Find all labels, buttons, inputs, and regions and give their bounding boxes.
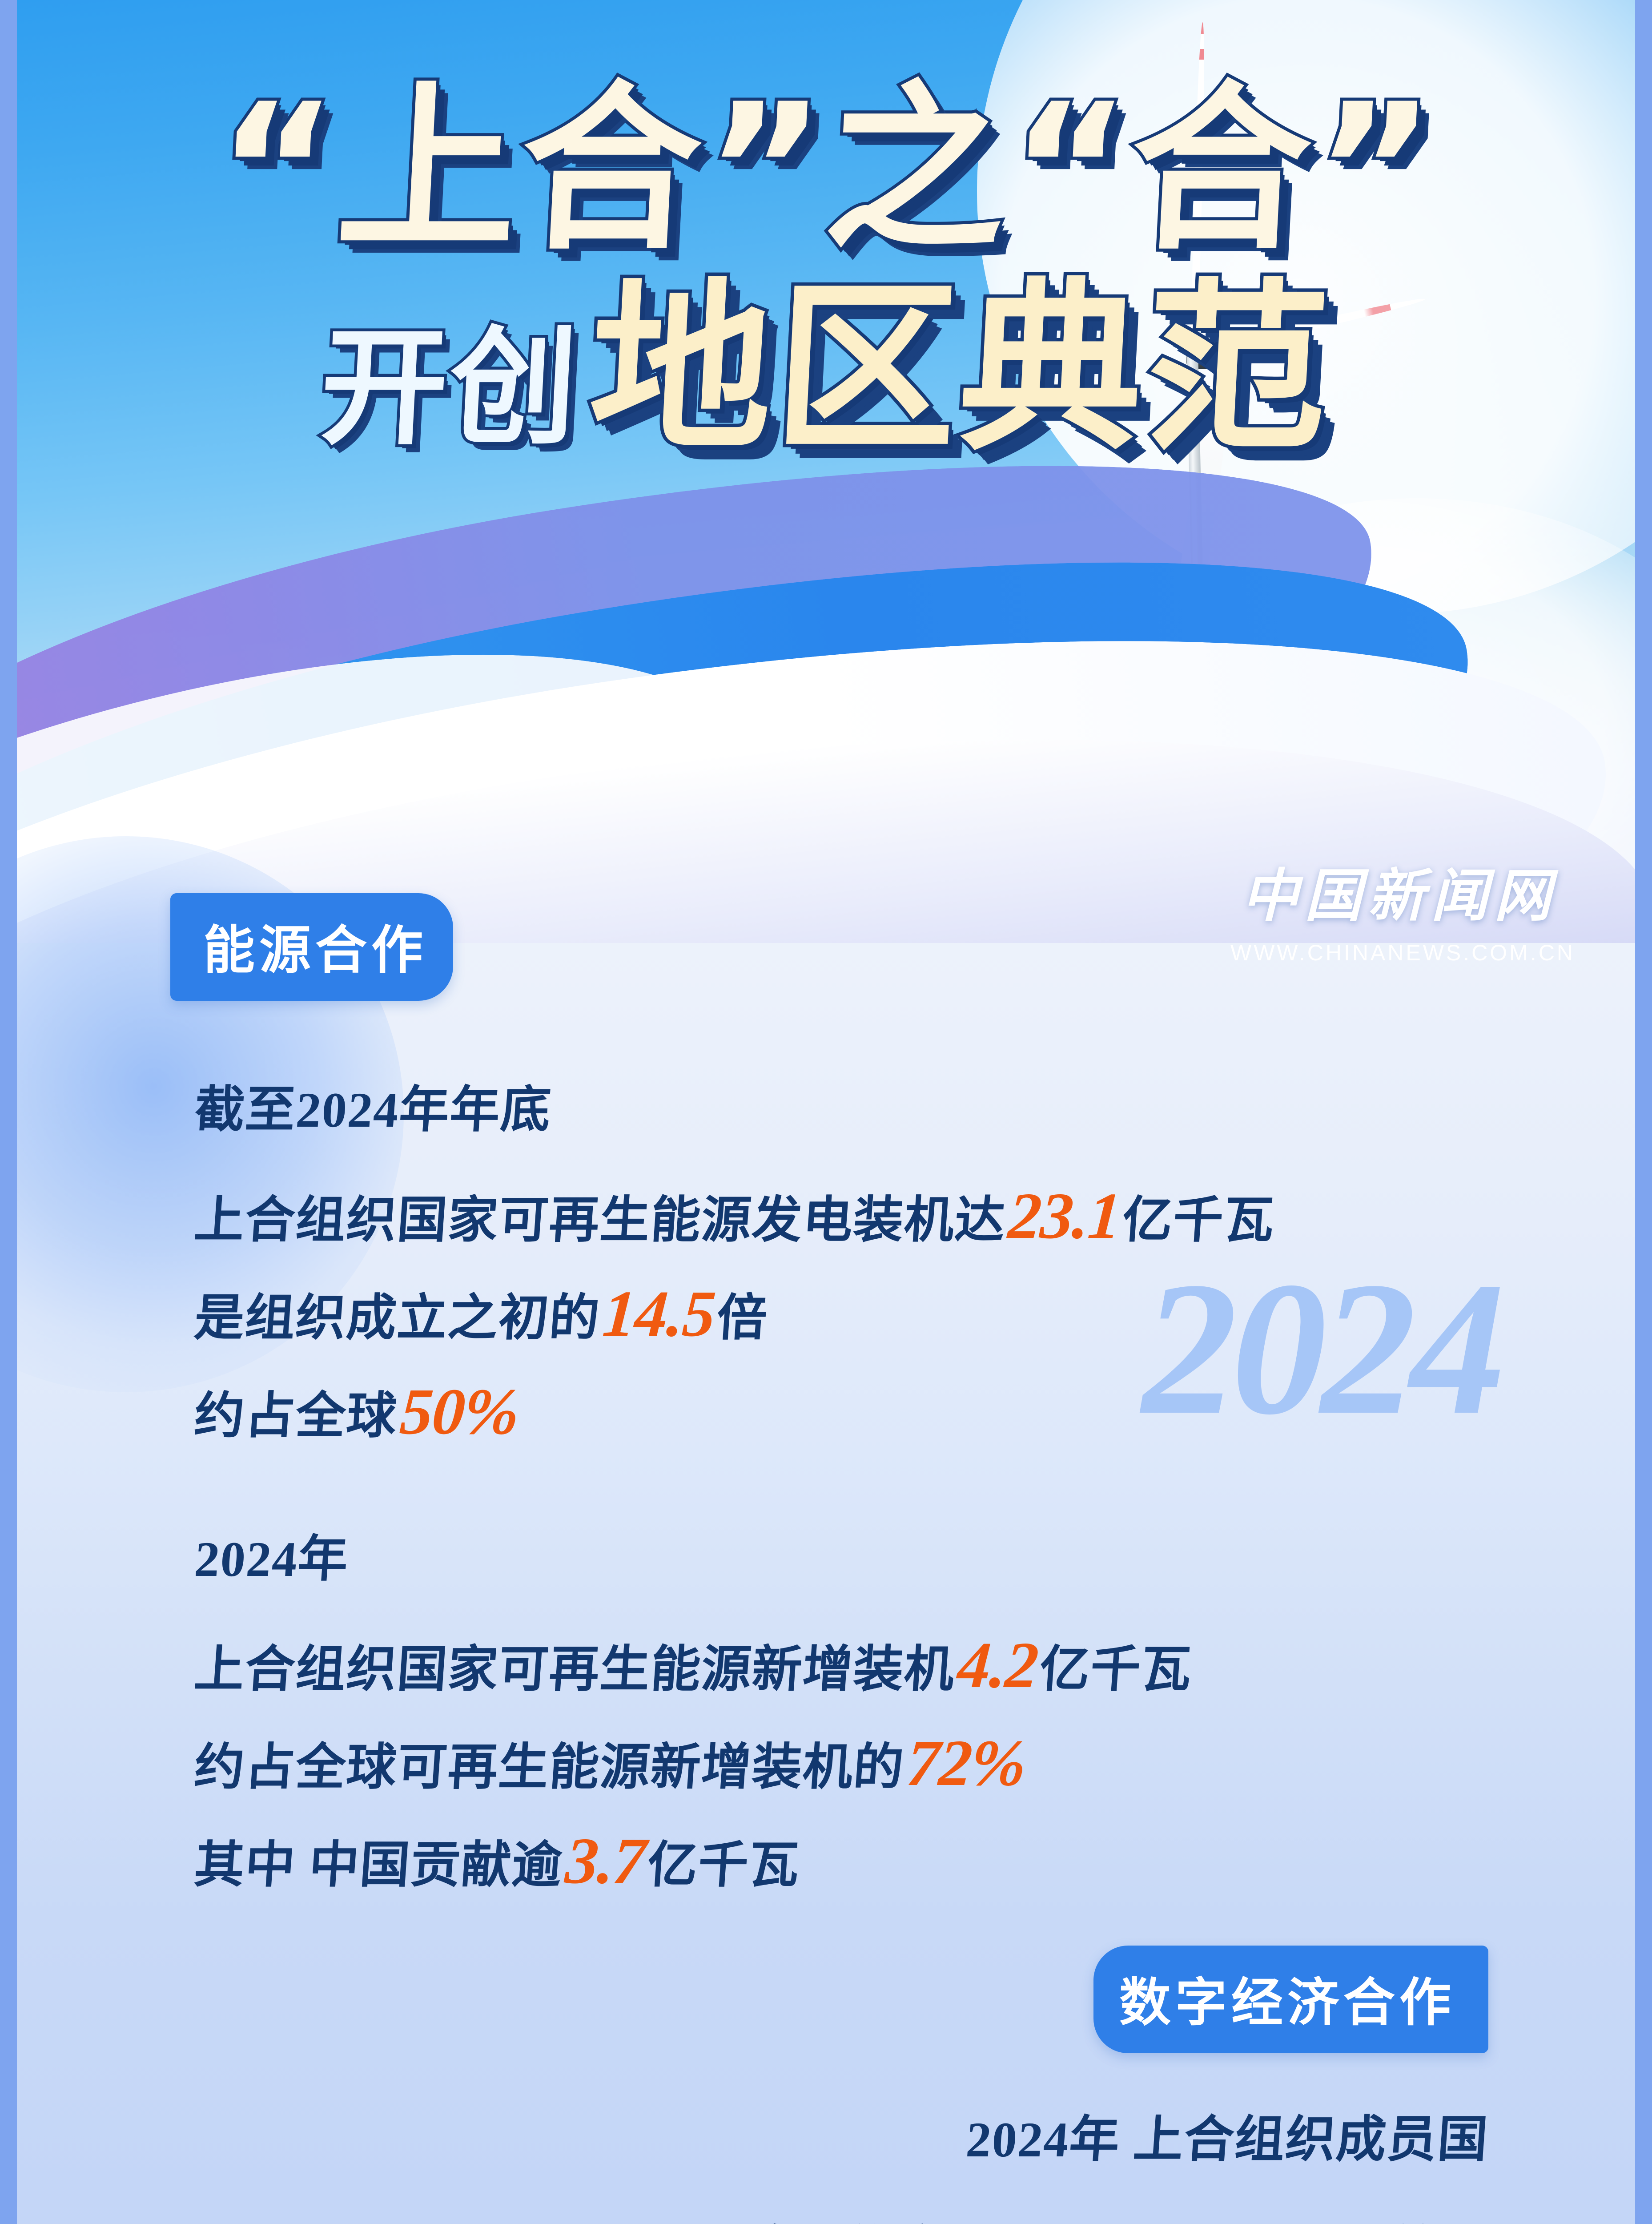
energy-line-7: 约占全球可再生能源新增装机的72% <box>193 1730 1030 1796</box>
energy-line-3-unit: 倍 <box>715 1291 770 1346</box>
energy-line-7-value: 72% <box>902 1727 1030 1800</box>
energy-line-3-value: 14.5 <box>598 1277 719 1350</box>
energy-line-6-value: 4.2 <box>953 1629 1042 1702</box>
energy-line-4-text: 约占全球 <box>193 1389 399 1444</box>
energy-line-8-text: 其中 中国贡献逾 <box>193 1838 565 1893</box>
infographic-poster: “上合”之“合” 开创地区典范 中国新闻网 WWW.CHINANEWS.COM.… <box>0 0 1652 2224</box>
energy-line-5: 2024年 <box>193 1535 350 1584</box>
poster-frame: “上合”之“合” 开创地区典范 中国新闻网 WWW.CHINANEWS.COM.… <box>17 0 1635 2224</box>
energy-line-3-text: 是组织成立之初的 <box>193 1291 602 1346</box>
energy-line-3: 是组织成立之初的14.5倍 <box>193 1281 770 1347</box>
digital-line-1-text: 2024年 上合组织成员国 <box>965 2112 1491 2168</box>
chinanews-logo: 中国新闻网 WWW.CHINANEWS.COM.CN <box>1230 850 1568 966</box>
section-badge-energy: 能源合作 <box>170 893 453 1001</box>
title-line-2: 开创地区典范 <box>17 278 1635 460</box>
energy-line-4-value: 50% <box>395 1375 523 1448</box>
energy-line-1: 截至2024年年底 <box>193 1085 553 1135</box>
energy-line-4: 约占全球50% <box>193 1379 523 1445</box>
energy-line-2: 上合组织国家可再生能源发电装机达23.1亿千瓦 <box>193 1183 1277 1249</box>
energy-line-8-unit: 亿千瓦 <box>646 1838 802 1893</box>
energy-line-8: 其中 中国贡献逾3.7亿千瓦 <box>193 1828 802 1894</box>
energy-line-6-text: 上合组织国家可再生能源新增装机 <box>193 1642 957 1697</box>
energy-line-7-text: 约占全球可再生能源新增装机的 <box>193 1740 906 1795</box>
digital-line-2-value: 3.2 <box>1198 2209 1288 2224</box>
energy-line-2-unit: 亿千瓦 <box>1121 1193 1277 1248</box>
title-line-2-prefix: 开创 <box>317 314 582 462</box>
energy-line-6-unit: 亿千瓦 <box>1038 1642 1194 1697</box>
watermark-year-2024-digital: 2024 <box>213 2213 570 2224</box>
digital-line-1: 2024年 上合组织成员国 <box>965 2115 1490 2165</box>
energy-line-1-text: 截至2024年年底 <box>193 1083 554 1138</box>
title-line-1-text: “上合”之“合” <box>211 65 1441 274</box>
title-line-1: “上合”之“合” <box>17 80 1635 260</box>
logo-url: WWW.CHINANEWS.COM.CN <box>1230 940 1568 966</box>
energy-line-6: 上合组织国家可再生能源新增装机4.2亿千瓦 <box>193 1632 1194 1698</box>
energy-line-8-value: 3.7 <box>560 1825 650 1898</box>
energy-line-5-text: 2024年 <box>193 1532 351 1587</box>
digital-line-2: 网络零售市场规模超过3.2万亿美元 <box>691 2213 1491 2224</box>
title-line-2-emphasis: 地区典范 <box>585 262 1336 475</box>
section-badge-digital-economy: 数字经济合作 <box>1093 1946 1488 2053</box>
energy-line-2-value: 23.1 <box>1003 1180 1125 1253</box>
watermark-year-2024-energy: 2024 <box>1142 1272 1499 1425</box>
logo-name: 中国新闻网 <box>1230 850 1568 932</box>
poster-title: “上合”之“合” 开创地区典范 <box>17 80 1635 460</box>
energy-line-2-text: 上合组织国家可再生能源发电装机达 <box>193 1193 1008 1248</box>
